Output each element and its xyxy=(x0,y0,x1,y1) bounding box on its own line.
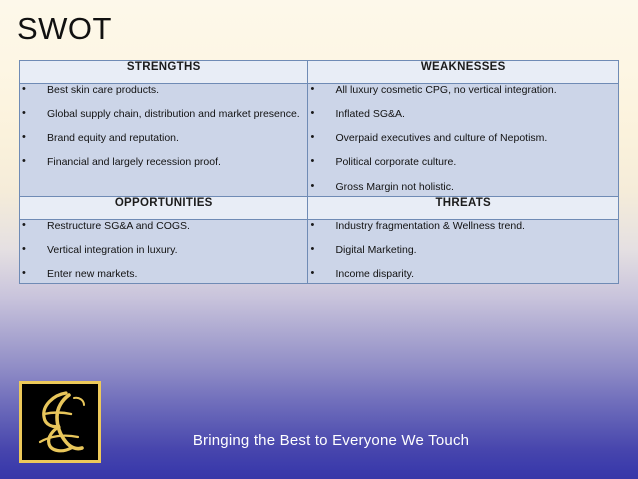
quadrant-cell-opportunities: Restructure SG&A and COGS. Vertical inte… xyxy=(20,219,308,283)
strengths-list: Best skin care products. Global supply c… xyxy=(20,84,307,170)
list-item: Financial and largely recession proof. xyxy=(20,156,307,169)
table-row-top-content: Best skin care products. Global supply c… xyxy=(20,84,619,197)
quadrant-cell-strengths: Best skin care products. Global supply c… xyxy=(20,84,308,197)
quadrant-header-opportunities: OPPORTUNITIES xyxy=(20,196,308,219)
list-item: Enter new markets. xyxy=(20,268,307,281)
threats-list: Industry fragmentation & Wellness trend.… xyxy=(308,220,618,281)
quadrant-header-weaknesses: WEAKNESSES xyxy=(308,61,619,84)
quadrant-header-strengths: STRENGTHS xyxy=(20,61,308,84)
list-item: Overpaid executives and culture of Nepot… xyxy=(308,132,618,145)
page-title: SWOT xyxy=(17,13,112,44)
list-item: Vertical integration in luxury. xyxy=(20,244,307,257)
table-row-bottom-content: Restructure SG&A and COGS. Vertical inte… xyxy=(20,219,619,283)
table-row-bottom-headers: OPPORTUNITIES THREATS xyxy=(20,196,619,219)
list-item: Restructure SG&A and COGS. xyxy=(20,220,307,233)
swot-slide: SWOT STRENGTHS WEAKNESSES Best skin care… xyxy=(0,0,638,479)
swot-matrix-table: STRENGTHS WEAKNESSES Best skin care prod… xyxy=(19,60,619,284)
list-item: Gross Margin not holistic. xyxy=(308,181,618,194)
quadrant-cell-weaknesses: All luxury cosmetic CPG, no vertical int… xyxy=(308,84,619,197)
quadrant-header-threats: THREATS xyxy=(308,196,619,219)
list-item: Income disparity. xyxy=(308,268,618,281)
list-item: Digital Marketing. xyxy=(308,244,618,257)
list-item: Inflated SG&A. xyxy=(308,108,618,121)
footer-tagline: Bringing the Best to Everyone We Touch xyxy=(0,432,638,449)
list-item: Political corporate culture. xyxy=(308,156,618,169)
opportunities-list: Restructure SG&A and COGS. Vertical inte… xyxy=(20,220,307,281)
list-item: Industry fragmentation & Wellness trend. xyxy=(308,220,618,233)
el-monogram-logo xyxy=(19,381,101,463)
list-item: Brand equity and reputation. xyxy=(20,132,307,145)
weaknesses-list: All luxury cosmetic CPG, no vertical int… xyxy=(308,84,618,194)
list-item: Global supply chain, distribution and ma… xyxy=(20,108,307,121)
list-item: Best skin care products. xyxy=(20,84,307,97)
table-row-top-headers: STRENGTHS WEAKNESSES xyxy=(20,61,619,84)
list-item: All luxury cosmetic CPG, no vertical int… xyxy=(308,84,618,97)
quadrant-cell-threats: Industry fragmentation & Wellness trend.… xyxy=(308,219,619,283)
